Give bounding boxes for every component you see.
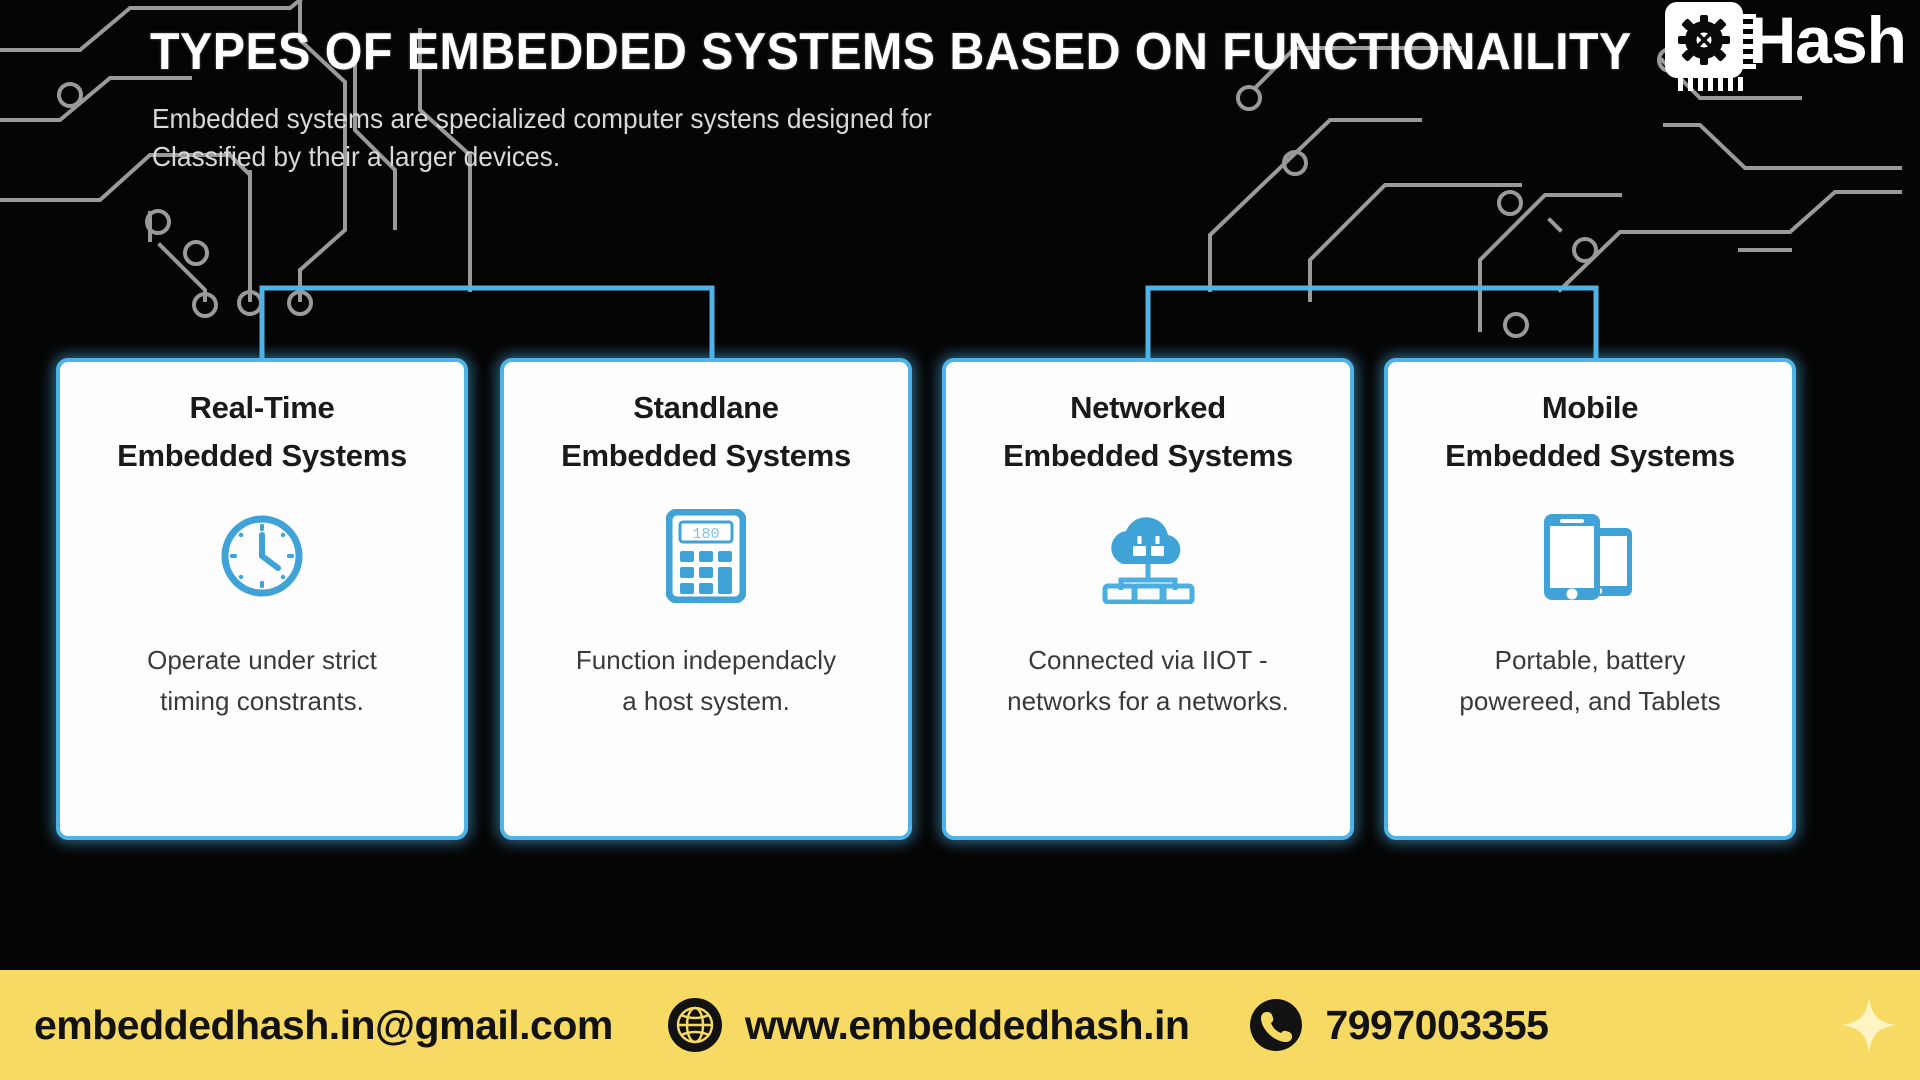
card-title: Standlane Embedded Systems bbox=[561, 384, 851, 480]
card-desc-line-1: Operate under strict bbox=[147, 640, 377, 681]
mobile-devices-icon bbox=[1536, 506, 1644, 606]
card-description: Portable, battery powereed, and Tablets bbox=[1441, 640, 1738, 722]
card-title: Mobile Embedded Systems bbox=[1445, 384, 1735, 480]
card-title: Real-Time Embedded Systems bbox=[117, 384, 407, 480]
calculator-icon: 180 bbox=[666, 506, 746, 606]
card-desc-line-2: networks for a networks. bbox=[1007, 681, 1289, 722]
brand-logo[interactable]: Hash bbox=[1665, 2, 1906, 78]
card-title-line-2: Embedded Systems bbox=[1003, 432, 1293, 480]
card-desc-line-1: Function independacly bbox=[576, 640, 836, 681]
calculator-display-value: 180 bbox=[692, 526, 719, 543]
globe-icon bbox=[667, 997, 723, 1053]
card-networked[interactable]: Networked Embedded Systems bbox=[942, 358, 1354, 840]
card-desc-line-2: a host system. bbox=[576, 681, 836, 722]
clock-icon bbox=[216, 506, 308, 606]
chip-pins-right bbox=[1742, 14, 1756, 69]
phone-icon bbox=[1249, 998, 1303, 1052]
card-desc-line-2: powereed, and Tablets bbox=[1459, 681, 1720, 722]
cards-row: Real-Time Embedded Systems bbox=[0, 0, 1920, 1080]
card-real-time[interactable]: Real-Time Embedded Systems bbox=[56, 358, 468, 840]
card-title-line-1: Standlane bbox=[561, 384, 851, 432]
footer-phone-text: 7997003355 bbox=[1325, 1002, 1548, 1049]
chip-hash-icon bbox=[1665, 2, 1743, 78]
card-title: Networked Embedded Systems bbox=[1003, 384, 1293, 480]
footer-contact-bar: embeddedhash.in@gmail.com www.embeddedha… bbox=[0, 970, 1920, 1080]
card-mobile[interactable]: Mobile Embedded Systems Portable, batter… bbox=[1384, 358, 1796, 840]
chip-pins-bottom bbox=[1678, 77, 1743, 91]
footer-website-text: www.embeddedhash.in bbox=[745, 1002, 1190, 1049]
card-title-line-2: Embedded Systems bbox=[561, 432, 851, 480]
card-description: Function independacly a host system. bbox=[558, 640, 854, 722]
cloud-network-icon bbox=[1093, 506, 1203, 606]
card-desc-line-1: Connected via IIOT - bbox=[1007, 640, 1289, 681]
card-description: Operate under strict timing constrants. bbox=[129, 640, 395, 722]
footer-phone[interactable]: 7997003355 bbox=[1249, 998, 1548, 1052]
card-desc-line-1: Portable, battery bbox=[1459, 640, 1720, 681]
footer-website[interactable]: www.embeddedhash.in bbox=[667, 997, 1190, 1053]
card-title-line-2: Embedded Systems bbox=[1445, 432, 1735, 480]
card-desc-line-2: timing constrants. bbox=[147, 681, 377, 722]
card-title-line-1: Real-Time bbox=[117, 384, 407, 432]
footer-email[interactable]: embeddedhash.in@gmail.com bbox=[34, 1002, 613, 1049]
footer-email-text: embeddedhash.in@gmail.com bbox=[34, 1002, 613, 1049]
sparkle-icon bbox=[1842, 998, 1896, 1057]
brand-name: Hash bbox=[1749, 4, 1906, 76]
card-title-line-2: Embedded Systems bbox=[117, 432, 407, 480]
card-description: Connected via IIOT - networks for a netw… bbox=[989, 640, 1307, 722]
card-title-line-1: Networked bbox=[1003, 384, 1293, 432]
card-standlane[interactable]: Standlane Embedded Systems 180 bbox=[500, 358, 912, 840]
card-title-line-1: Mobile bbox=[1445, 384, 1735, 432]
